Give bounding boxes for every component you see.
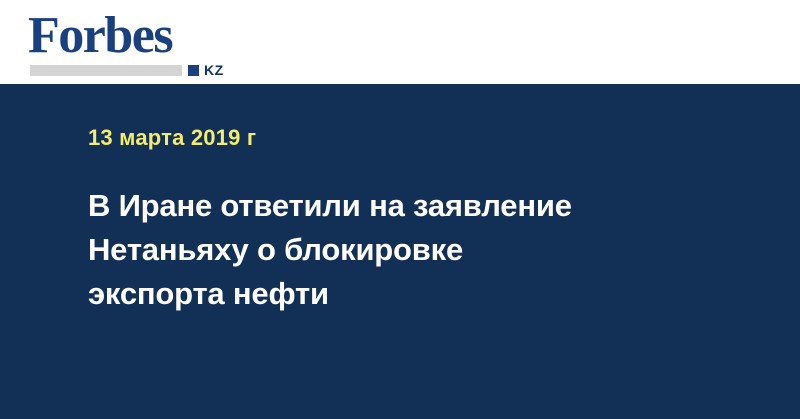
headline-line-1: В Иране ответили на заявление [88,184,708,228]
article-hero-page: Forbes KZ 13 марта 2019 г В Иране ответи… [0,0,800,419]
logo-square-icon [188,65,199,76]
article-hero-banner: 13 марта 2019 г В Иране ответили на заяв… [0,84,800,419]
article-publish-date: 13 марта 2019 г [88,126,256,150]
article-headline: В Иране ответили на заявление Нетаньяху … [88,184,708,316]
headline-line-3: экспорта нефти [88,272,708,316]
forbes-kz-logo[interactable]: Forbes KZ [28,8,238,78]
forbes-wordmark: Forbes [28,8,172,64]
logo-country-code: KZ [204,63,224,77]
site-header: Forbes KZ [0,0,800,84]
logo-underline-bar [30,65,182,76]
headline-line-2: Нетаньяху о блокировке [88,228,708,272]
